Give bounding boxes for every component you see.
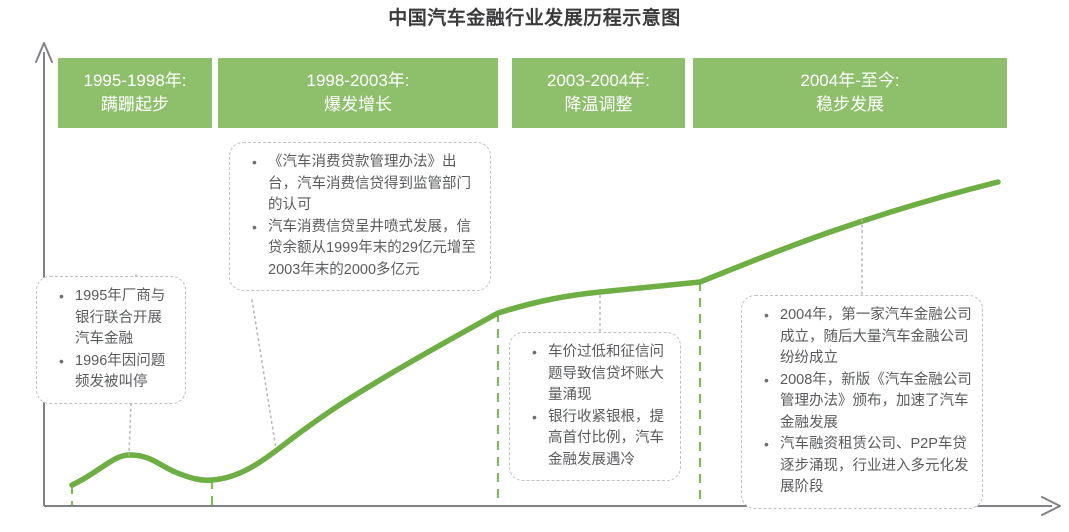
callout-1-bullet-1: 1995年厂商与银行联合开展汽车金融 <box>59 286 175 351</box>
connector-2 <box>252 300 276 449</box>
y-axis-arrow-icon <box>36 43 52 62</box>
callout-4-bullet-2: 2008年，新版《汽车金融公司管理办法》颁布，加速了汽车金融发展 <box>764 370 972 435</box>
page-title: 中国汽车金融行业发展历程示意图 <box>0 6 1069 32</box>
callout-box-baofa-zengzhang[interactable]: 《汽车消费贷款管理办法》出台，汽车消费信贷得到监管部门的认可 汽车消费信贷呈井喷… <box>229 142 491 291</box>
callout-2-list: 《汽车消费贷款管理办法》出台，汽车消费信贷得到监管部门的认可 汽车消费信贷呈井喷… <box>236 152 480 281</box>
phase-3-name: 降温调整 <box>565 93 633 117</box>
phase-header-1[interactable]: 1995-1998年: 蹒跚起步 <box>58 58 212 128</box>
callout-2-bullet-2: 汽车消费信贷呈井喷式发展，信贷余额从1999年末的29亿元增至2003年末的20… <box>252 217 480 282</box>
phase-header-4[interactable]: 2004年-至今: 稳步发展 <box>693 58 1007 128</box>
callout-4-bullet-3: 汽车融资租赁公司、P2P车贷逐步涌现，行业进入多元化发展阶段 <box>764 434 972 499</box>
x-axis-arrow-icon <box>1042 497 1060 515</box>
callout-box-jiangwen-tiaozheng[interactable]: 车价过低和征信问题导致信贷坏账大量涌现 银行收紧银根，提高首付比例，汽车金融发展… <box>509 332 681 481</box>
phase-header-2[interactable]: 1998-2003年: 爆发增长 <box>218 58 498 128</box>
phase-2-period: 1998-2003年: <box>306 69 409 93</box>
callout-box-qijian-qibu[interactable]: 1995年厂商与银行联合开展汽车金融 1996年因问题频发被叫停 <box>36 276 186 404</box>
phase-1-name: 蹒跚起步 <box>101 93 169 117</box>
phase-3-period: 2003-2004年: <box>547 69 650 93</box>
callout-2-bullet-1: 《汽车消费贷款管理办法》出台，汽车消费信贷得到监管部门的认可 <box>252 152 480 217</box>
callout-1-list: 1995年厂商与银行联合开展汽车金融 1996年因问题频发被叫停 <box>43 286 175 394</box>
callout-4-bullet-1: 2004年，第一家汽车金融公司成立，随后大量汽车金融公司纷纷成立 <box>764 305 972 370</box>
phase-4-name: 稳步发展 <box>816 93 884 117</box>
callout-box-wenbu-fazhan[interactable]: 2004年，第一家汽车金融公司成立，随后大量汽车金融公司纷纷成立 2008年，新… <box>741 295 983 509</box>
y-axis <box>36 43 52 506</box>
callout-3-bullet-1: 车价过低和征信问题导致信贷坏账大量涌现 <box>532 342 670 407</box>
phase-1-period: 1995-1998年: <box>83 69 186 93</box>
callout-1-bullet-2: 1996年因问题频发被叫停 <box>59 351 175 394</box>
phase-4-period: 2004年-至今: <box>800 69 899 93</box>
phase-2-name: 爆发增长 <box>324 93 392 117</box>
callout-4-list: 2004年，第一家汽车金融公司成立，随后大量汽车金融公司纷纷成立 2008年，新… <box>748 305 972 499</box>
phase-header-3[interactable]: 2003-2004年: 降温调整 <box>512 58 685 128</box>
callout-3-bullet-2: 银行收紧银根，提高首付比例，汽车金融发展遇冷 <box>532 407 670 472</box>
callout-3-list: 车价过低和征信问题导致信贷坏账大量涌现 银行收紧银根，提高首付比例，汽车金融发展… <box>516 342 670 471</box>
